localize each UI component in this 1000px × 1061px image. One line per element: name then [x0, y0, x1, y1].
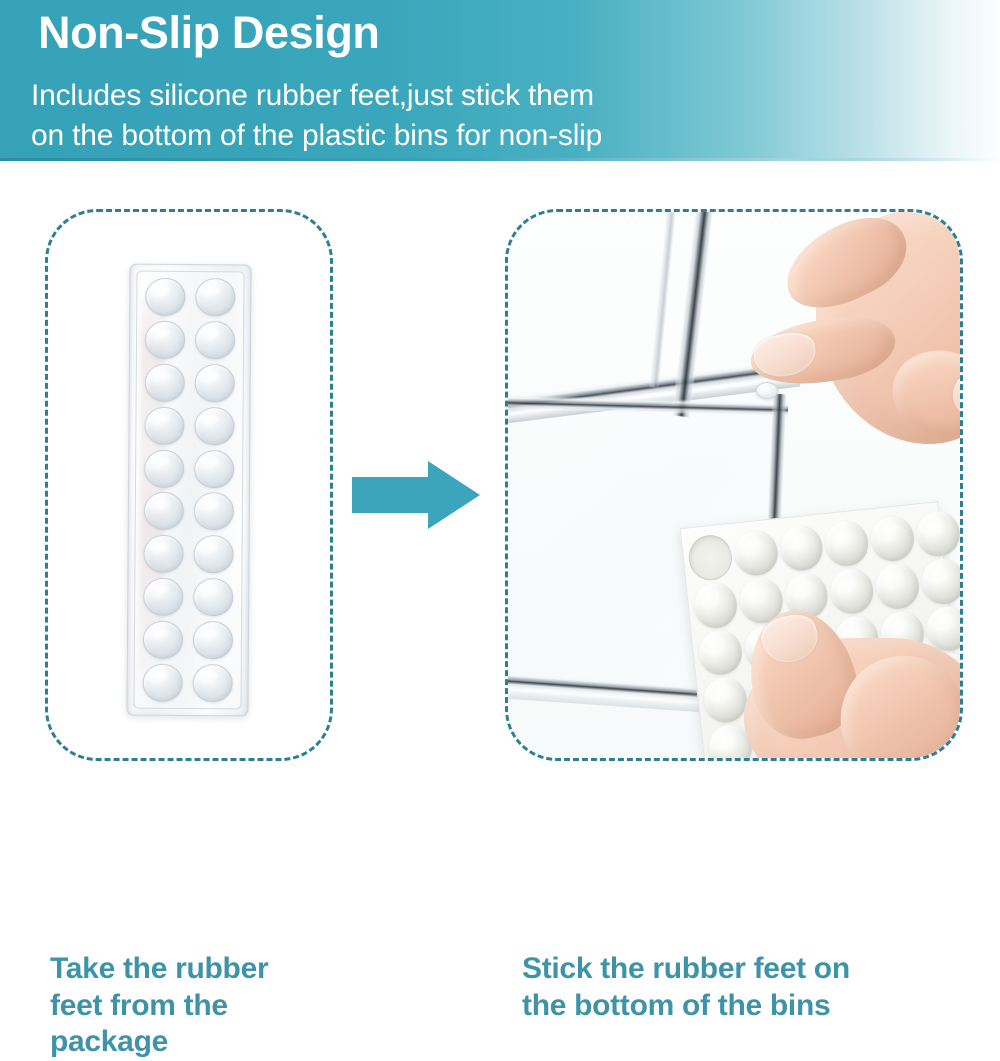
step-2-image-panel	[505, 209, 963, 761]
bumper	[823, 519, 870, 568]
rubber-foot	[141, 277, 190, 318]
header-banner: Non-Slip Design Includes silicone rubber…	[0, 0, 1000, 161]
rubber-foot	[190, 320, 239, 361]
step-2-caption: Stick the rubber feet on the bottom of t…	[522, 951, 982, 1024]
rubber-foot	[188, 619, 237, 660]
rubber-foot	[191, 277, 240, 318]
applied-rubber-foot	[756, 382, 778, 399]
rubber-foot	[141, 319, 190, 360]
step-1-caption-line-2: feet from the	[50, 988, 380, 1025]
hand-holding-sheet	[744, 610, 960, 758]
bin-divider-secondary	[649, 212, 677, 388]
header-subtitle-line-1: Includes silicone rubber feet,just stick…	[31, 76, 602, 116]
bin-scene	[508, 212, 960, 758]
bumper	[778, 524, 825, 573]
bumper-slot-empty	[687, 533, 734, 582]
step-1-photo	[48, 212, 330, 758]
rubber-foot	[140, 448, 189, 489]
step-1-caption-line-1: Take the rubber	[50, 951, 380, 988]
step-2-photo	[508, 212, 960, 758]
blister-package-image	[126, 264, 251, 717]
header-subtitle: Includes silicone rubber feet,just stick…	[31, 76, 602, 155]
step-1-image-panel	[45, 209, 333, 761]
rubber-foot	[140, 405, 189, 446]
rubber-foot	[188, 662, 237, 703]
rubber-foot	[140, 491, 189, 532]
bumper	[702, 676, 749, 725]
bumper	[732, 528, 779, 577]
bumper	[920, 557, 960, 606]
rubber-feet-grid	[139, 277, 240, 704]
rubber-foot	[139, 576, 188, 617]
rubber-foot	[189, 534, 238, 575]
hand-pressing-foot	[720, 212, 960, 484]
rubber-foot	[139, 619, 188, 660]
bumper	[874, 561, 921, 610]
rubber-foot	[141, 362, 190, 403]
step-1-caption-line-3: package	[50, 1024, 380, 1061]
header-subtitle-line-2: on the bottom of the plastic bins for no…	[31, 116, 602, 156]
step-2-caption-line-2: the bottom of the bins	[522, 988, 982, 1025]
step-2-caption-line-1: Stick the rubber feet on	[522, 951, 982, 988]
bumper	[869, 514, 916, 563]
bumper	[697, 628, 744, 677]
bumper	[692, 581, 739, 630]
bumper	[828, 566, 875, 615]
rubber-foot	[189, 491, 238, 532]
rubber-foot	[189, 577, 238, 618]
step-1-caption: Take the rubber feet from the package	[50, 951, 380, 1061]
rubber-foot	[190, 448, 239, 489]
page-title: Non-Slip Design	[38, 8, 380, 58]
rubber-foot	[190, 363, 239, 404]
rubber-foot	[139, 533, 188, 574]
content-area: Take the rubber feet from the package St…	[0, 161, 1000, 904]
arrow-right-icon	[352, 459, 480, 531]
rubber-foot	[190, 405, 239, 446]
rubber-foot	[139, 662, 188, 703]
bumper	[915, 509, 960, 558]
